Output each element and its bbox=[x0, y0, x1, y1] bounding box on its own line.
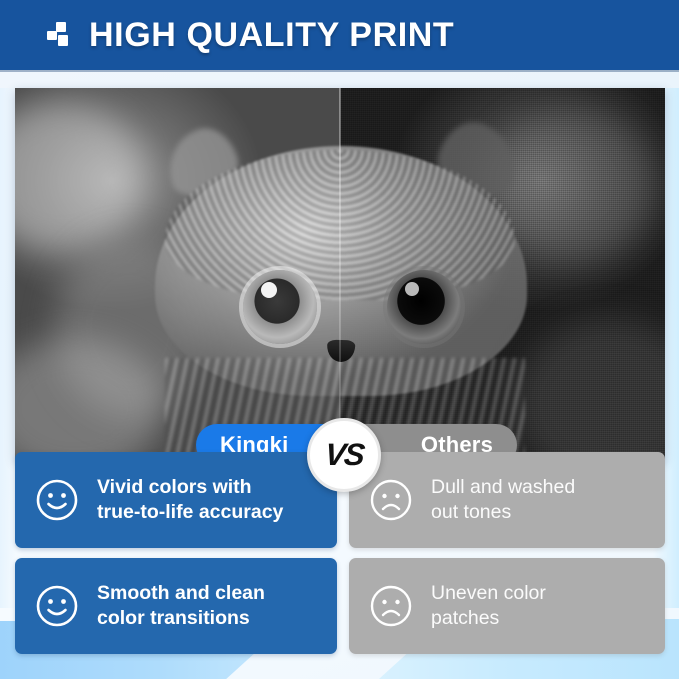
benefit-line-1: Smooth and clean bbox=[97, 582, 265, 604]
vs-badge-label: VS bbox=[323, 437, 365, 473]
blocks-icon bbox=[47, 22, 71, 49]
vs-badge: VS bbox=[307, 418, 381, 492]
drawback-line-1: Uneven color bbox=[431, 582, 546, 604]
comparison-photo bbox=[15, 88, 665, 460]
benefit-card-text: Smooth and clean color transitions bbox=[97, 581, 265, 631]
comparison-row: Smooth and clean color transitions Uneve… bbox=[15, 558, 665, 654]
photo-canvas bbox=[15, 88, 665, 460]
benefit-card: Vivid colors with true-to-life accuracy bbox=[15, 452, 337, 548]
owl-eye-glint-left bbox=[261, 282, 277, 298]
infographic-canvas: HIGH QUALITY PRINT bbox=[0, 0, 679, 679]
drawback-card: Dull and washed out tones bbox=[349, 452, 665, 548]
owl-eye-left bbox=[243, 270, 317, 344]
sad-face-icon bbox=[369, 478, 413, 522]
owl-eye-glint-right bbox=[405, 282, 419, 296]
sad-face-icon bbox=[369, 584, 413, 628]
drawback-line-2: patches bbox=[431, 607, 499, 629]
drawback-card-text: Uneven color patches bbox=[431, 581, 546, 631]
header-banner: HIGH QUALITY PRINT bbox=[0, 0, 679, 70]
benefit-line-2: true-to-life accuracy bbox=[97, 501, 283, 523]
owl-eye-right bbox=[387, 270, 461, 344]
benefit-card: Smooth and clean color transitions bbox=[15, 558, 337, 654]
benefit-line-1: Vivid colors with bbox=[97, 476, 252, 498]
left-edge-gradient bbox=[0, 88, 16, 608]
page-title: HIGH QUALITY PRINT bbox=[89, 16, 454, 55]
benefit-card-text: Vivid colors with true-to-life accuracy bbox=[97, 475, 283, 525]
header-inner: HIGH QUALITY PRINT bbox=[0, 16, 454, 55]
benefit-line-2: color transitions bbox=[97, 607, 250, 629]
drawback-line-1: Dull and washed bbox=[431, 476, 575, 498]
drawback-line-2: out tones bbox=[431, 501, 511, 523]
smiley-face-icon bbox=[35, 478, 79, 522]
drawback-card-text: Dull and washed out tones bbox=[431, 475, 575, 525]
smiley-face-icon bbox=[35, 584, 79, 628]
photo-split-divider bbox=[339, 88, 341, 460]
drawback-card: Uneven color patches bbox=[349, 558, 665, 654]
